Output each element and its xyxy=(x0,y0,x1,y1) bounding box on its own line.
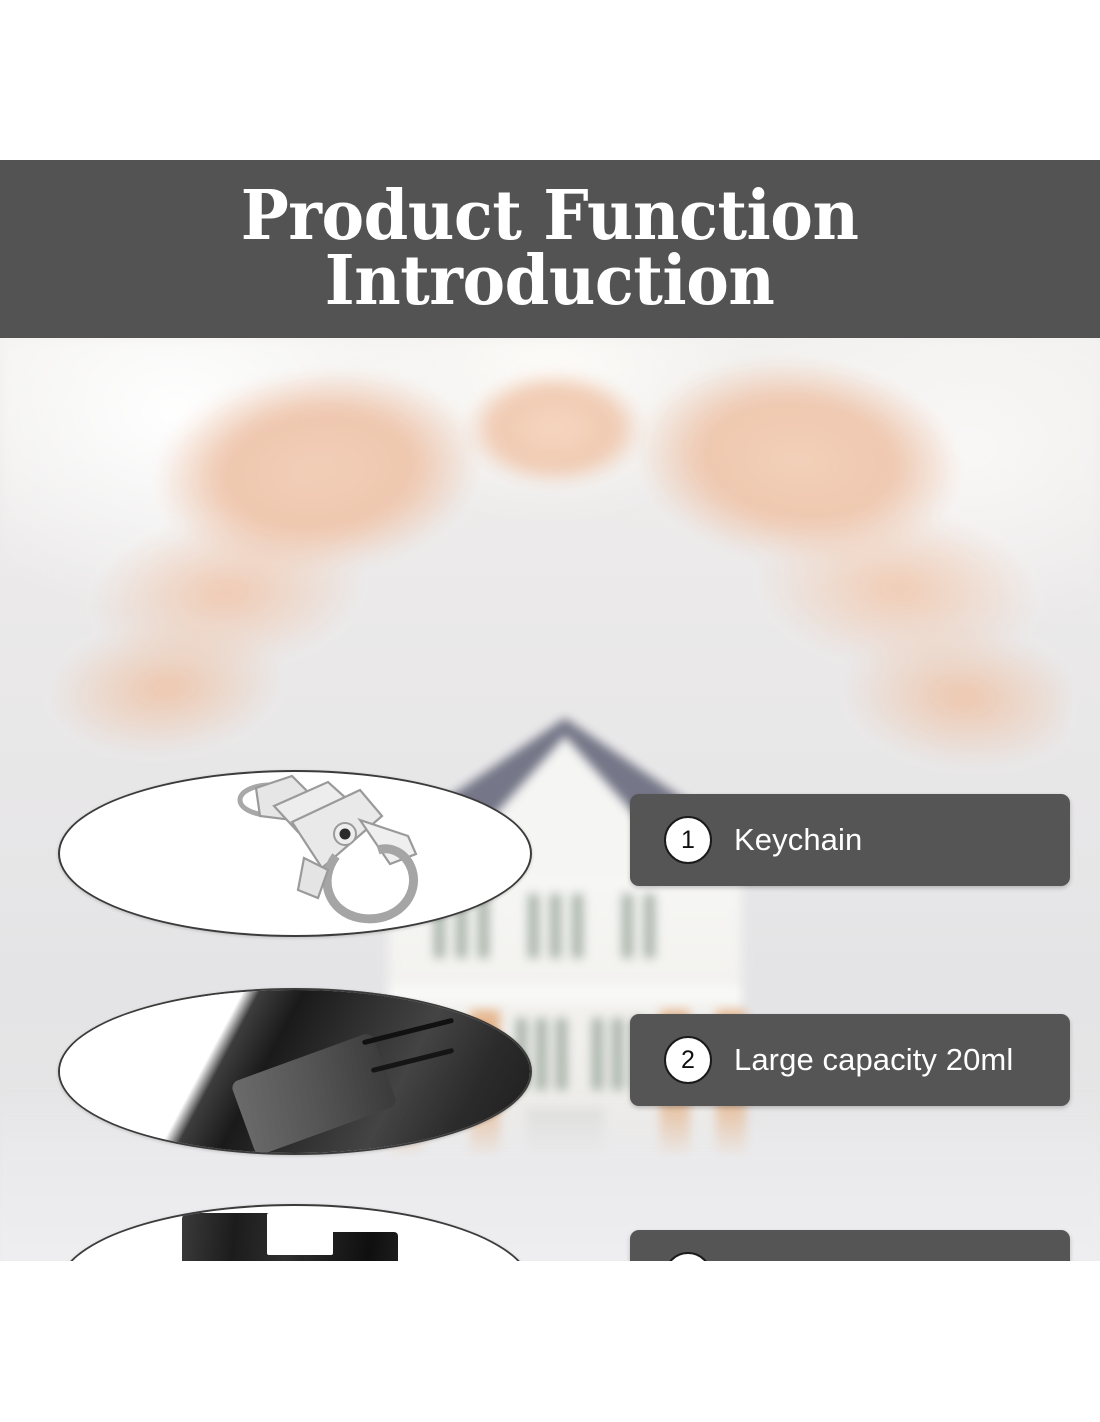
feature-number-badge-1: 1 xyxy=(664,816,712,864)
page-title: Product Function Introduction xyxy=(204,184,897,315)
feature-number-badge-2: 2 xyxy=(664,1036,712,1084)
nozzle-notch xyxy=(267,1213,333,1255)
house-window xyxy=(556,1018,567,1090)
feature-card-1[interactable]: 1 Keychain xyxy=(630,794,1070,886)
title-banner: Product Function Introduction xyxy=(0,160,1100,338)
house-window xyxy=(550,894,561,958)
background-photo: 1 Keychain 2 Large capacity 20ml 3 Press… xyxy=(0,338,1100,1261)
feature-label-1: Keychain xyxy=(734,822,862,858)
house-window xyxy=(644,894,655,958)
feature-label-2: Large capacity 20ml xyxy=(734,1042,1013,1078)
inset-keychain-closeup xyxy=(58,770,532,937)
house-window xyxy=(592,1018,603,1090)
keychain-icon xyxy=(60,772,530,935)
product-infographic-page: Product Function Introduction xyxy=(0,0,1100,1422)
bottom-margin xyxy=(0,1261,1100,1422)
house-window xyxy=(536,1018,547,1090)
feature-card-2[interactable]: 2 Large capacity 20ml xyxy=(630,1014,1070,1106)
house-window xyxy=(612,1018,623,1090)
inset-bottle-body-closeup xyxy=(58,988,532,1155)
house-window xyxy=(622,894,633,958)
feature-card-3[interactable]: 3 Press type nozzle xyxy=(630,1230,1070,1261)
house-window xyxy=(572,894,583,958)
hand-fingertips xyxy=(430,346,680,496)
feature-number-badge-3: 3 xyxy=(664,1252,712,1261)
